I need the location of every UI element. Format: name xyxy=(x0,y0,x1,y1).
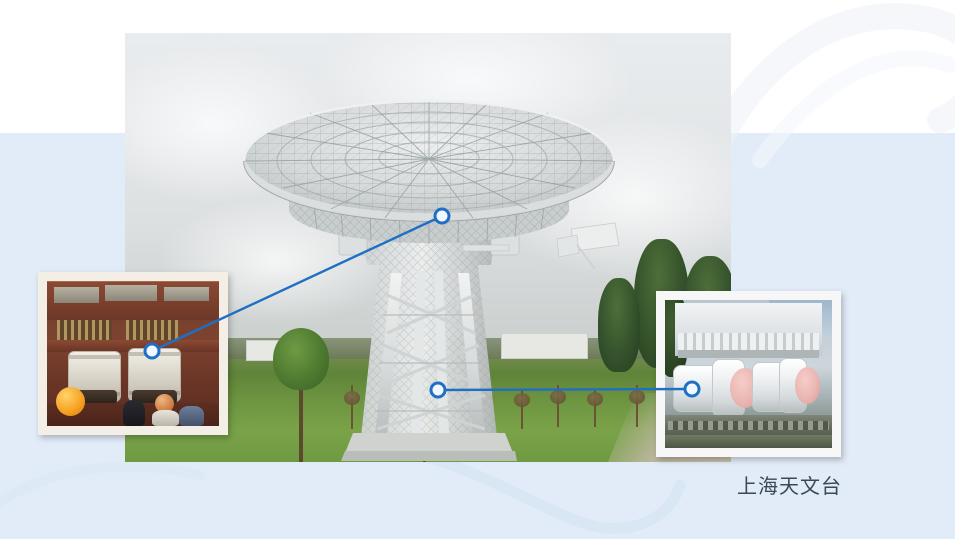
inset-photo-right xyxy=(656,291,841,457)
worker-shoulders xyxy=(152,410,180,426)
base-bolts xyxy=(668,421,828,430)
orange-helmet xyxy=(56,387,85,416)
bolt-row xyxy=(126,320,178,340)
housing-rail xyxy=(678,350,818,357)
pink-end-cap xyxy=(795,367,820,404)
slide-canvas: 上海天文台 xyxy=(0,0,955,539)
bolt-row xyxy=(57,320,112,340)
ground-strip xyxy=(665,435,832,448)
metal-plate xyxy=(105,285,157,301)
inset-right-image xyxy=(665,300,832,448)
inset-photo-left xyxy=(38,272,228,435)
inset-left-image xyxy=(47,281,219,426)
metal-plate xyxy=(164,287,209,302)
drive-cylinder xyxy=(128,348,182,402)
worker-silhouette xyxy=(179,406,203,426)
worker-silhouette xyxy=(123,400,145,426)
observatory-caption: 上海天文台 xyxy=(737,470,842,499)
metal-plate xyxy=(54,287,99,303)
